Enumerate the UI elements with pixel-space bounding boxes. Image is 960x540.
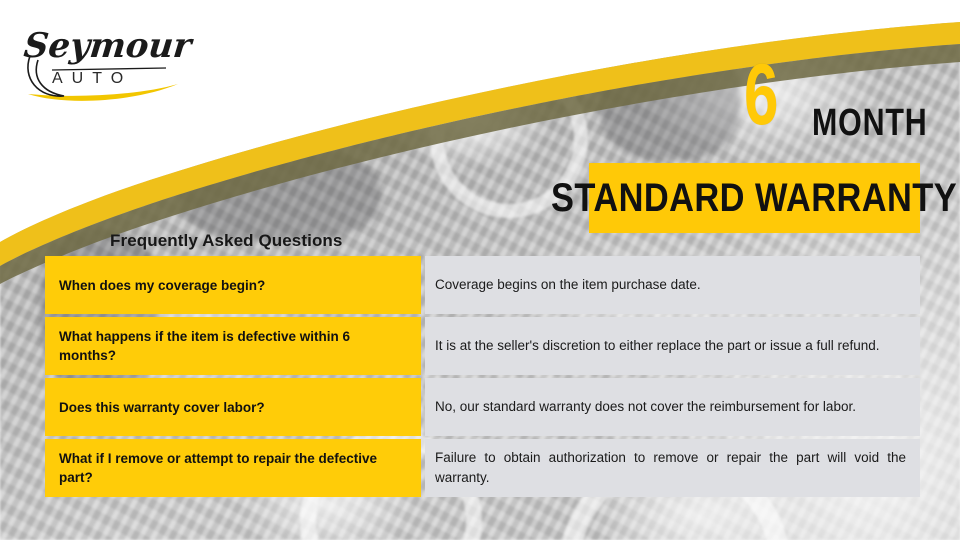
faq-question-cell: What happens if the item is defective wi… bbox=[45, 317, 421, 375]
standard-warranty-banner: STANDARD WARRANTY bbox=[589, 163, 920, 233]
faq-answer-cell: Failure to obtain authorization to remov… bbox=[425, 439, 920, 497]
faq-answer-cell: Coverage begins on the item purchase dat… bbox=[425, 256, 920, 314]
faq-answer-text: Coverage begins on the item purchase dat… bbox=[435, 275, 906, 295]
warranty-slide: Seymour AUTO 6 MONTH STANDARD WARRANTY F… bbox=[0, 0, 960, 540]
faq-row: What if I remove or attempt to repair th… bbox=[45, 439, 920, 497]
engine-shadow-1 bbox=[180, 150, 380, 240]
faq-answer-text: It is at the seller's discretion to eith… bbox=[435, 336, 906, 356]
faq-answer-text: No, our standard warranty does not cover… bbox=[435, 397, 906, 417]
faq-question-cell: When does my coverage begin? bbox=[45, 256, 421, 314]
faq-row: Does this warranty cover labor? No, our … bbox=[45, 378, 920, 436]
warranty-duration-number: 6 bbox=[744, 52, 778, 138]
brand-logo: Seymour AUTO bbox=[16, 22, 186, 104]
faq-answer-text: Failure to obtain authorization to remov… bbox=[435, 448, 906, 488]
faq-row: What happens if the item is defective wi… bbox=[45, 317, 920, 375]
faq-question-text: Does this warranty cover labor? bbox=[59, 398, 265, 417]
warranty-duration-unit: MONTH bbox=[812, 104, 927, 142]
faq-row: When does my coverage begin? Coverage be… bbox=[45, 256, 920, 314]
faq-table: When does my coverage begin? Coverage be… bbox=[45, 256, 920, 497]
faq-answer-cell: It is at the seller's discretion to eith… bbox=[425, 317, 920, 375]
standard-warranty-banner-label: STANDARD WARRANTY bbox=[551, 178, 957, 218]
faq-question-text: What happens if the item is defective wi… bbox=[59, 327, 407, 365]
faq-question-text: What if I remove or attempt to repair th… bbox=[59, 449, 407, 487]
faq-question-text: When does my coverage begin? bbox=[59, 276, 265, 295]
faq-section-title: Frequently Asked Questions bbox=[110, 231, 342, 251]
engine-shadow-2 bbox=[600, 40, 740, 160]
faq-answer-cell: No, our standard warranty does not cover… bbox=[425, 378, 920, 436]
faq-question-cell: What if I remove or attempt to repair th… bbox=[45, 439, 421, 497]
brand-logo-swoosh-icon bbox=[16, 22, 186, 104]
faq-question-cell: Does this warranty cover labor? bbox=[45, 378, 421, 436]
